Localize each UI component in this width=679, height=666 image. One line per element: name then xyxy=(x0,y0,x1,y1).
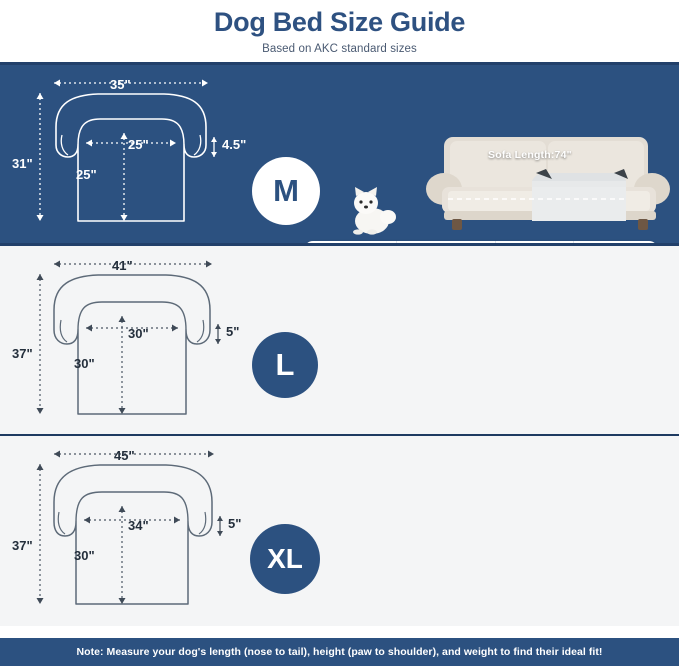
label-outer-width-m: 35" xyxy=(110,77,131,92)
size-section-medium: 35" 31" 25" 25" 4.5" M xyxy=(0,65,679,243)
col-body-length: Body Length xyxy=(495,241,573,243)
page-subtitle: Based on AKC standard sizes xyxy=(262,43,417,55)
page-title: Dog Bed Size Guide xyxy=(214,7,465,37)
label-outer-height-l: 37" xyxy=(12,346,33,361)
bed-diagram-xlarge: 45" 37" 34" 30" 5" xyxy=(0,436,250,626)
bed-outline xyxy=(54,465,212,604)
bed-diagram-large: 41" 37" 30" 30" 5" xyxy=(0,246,250,434)
label-bolster-height-m: 4.5" xyxy=(222,137,246,152)
label-bolster-height-l: 5" xyxy=(226,324,239,339)
col-sleep-area: Sleep Area xyxy=(304,241,396,243)
label-inner-width-m: 25" xyxy=(128,137,149,152)
label-inner-depth-m: 25" xyxy=(76,167,97,182)
bed-outline xyxy=(54,275,210,414)
label-outer-width-l: 41" xyxy=(112,258,133,273)
footer-note-bar: Note: Measure your dog's length (nose to… xyxy=(0,638,679,666)
label-outer-width-xl: 45" xyxy=(114,448,135,463)
dog-bed-size-guide-infographic: Dog Bed Size Guide Based on AKC standard… xyxy=(0,0,679,666)
size-badge-xlarge: XL xyxy=(250,524,320,594)
label-inner-depth-xl: 30" xyxy=(74,548,95,563)
label-bolster-height-xl: 5" xyxy=(228,516,241,531)
sofa-length-label-medium: Sofa Length:74" xyxy=(488,149,572,161)
label-inner-width-xl: 34" xyxy=(128,518,149,533)
sofa-illustration-medium xyxy=(426,127,676,239)
pomeranian-white-dog-illustration xyxy=(342,183,398,235)
page-header: Dog Bed Size Guide Based on AKC standard… xyxy=(0,0,679,62)
label-inner-depth-l: 30" xyxy=(74,356,95,371)
col-weight-limit: Weight Limit xyxy=(396,241,495,243)
size-section-xlarge: 45" 37" 34" 30" 5" XL xyxy=(0,436,679,626)
size-badge-label: M xyxy=(273,173,299,209)
size-badge-large: L xyxy=(252,332,318,398)
table-header-row: Sleep Area Weight Limit Body Length Shou… xyxy=(304,241,658,243)
size-section-large: 41" 37" 30" 30" 5" L xyxy=(0,246,679,434)
size-badge-label: XL xyxy=(267,543,303,575)
spec-table-medium: Sleep Area Weight Limit Body Length Shou… xyxy=(304,241,658,243)
size-badge-label: L xyxy=(276,347,295,383)
label-inner-width-l: 30" xyxy=(128,326,149,341)
label-outer-height-xl: 37" xyxy=(12,538,33,553)
footer-note-text: Note: Measure your dog's length (nose to… xyxy=(77,646,603,658)
size-badge-medium: M xyxy=(252,157,320,225)
label-outer-height-m: 31" xyxy=(12,156,33,171)
bed-outline xyxy=(56,94,206,221)
col-shoulder-height: Shoulder Height xyxy=(573,241,658,243)
bed-diagram-medium: 35" 31" 25" 25" 4.5" xyxy=(0,65,250,243)
